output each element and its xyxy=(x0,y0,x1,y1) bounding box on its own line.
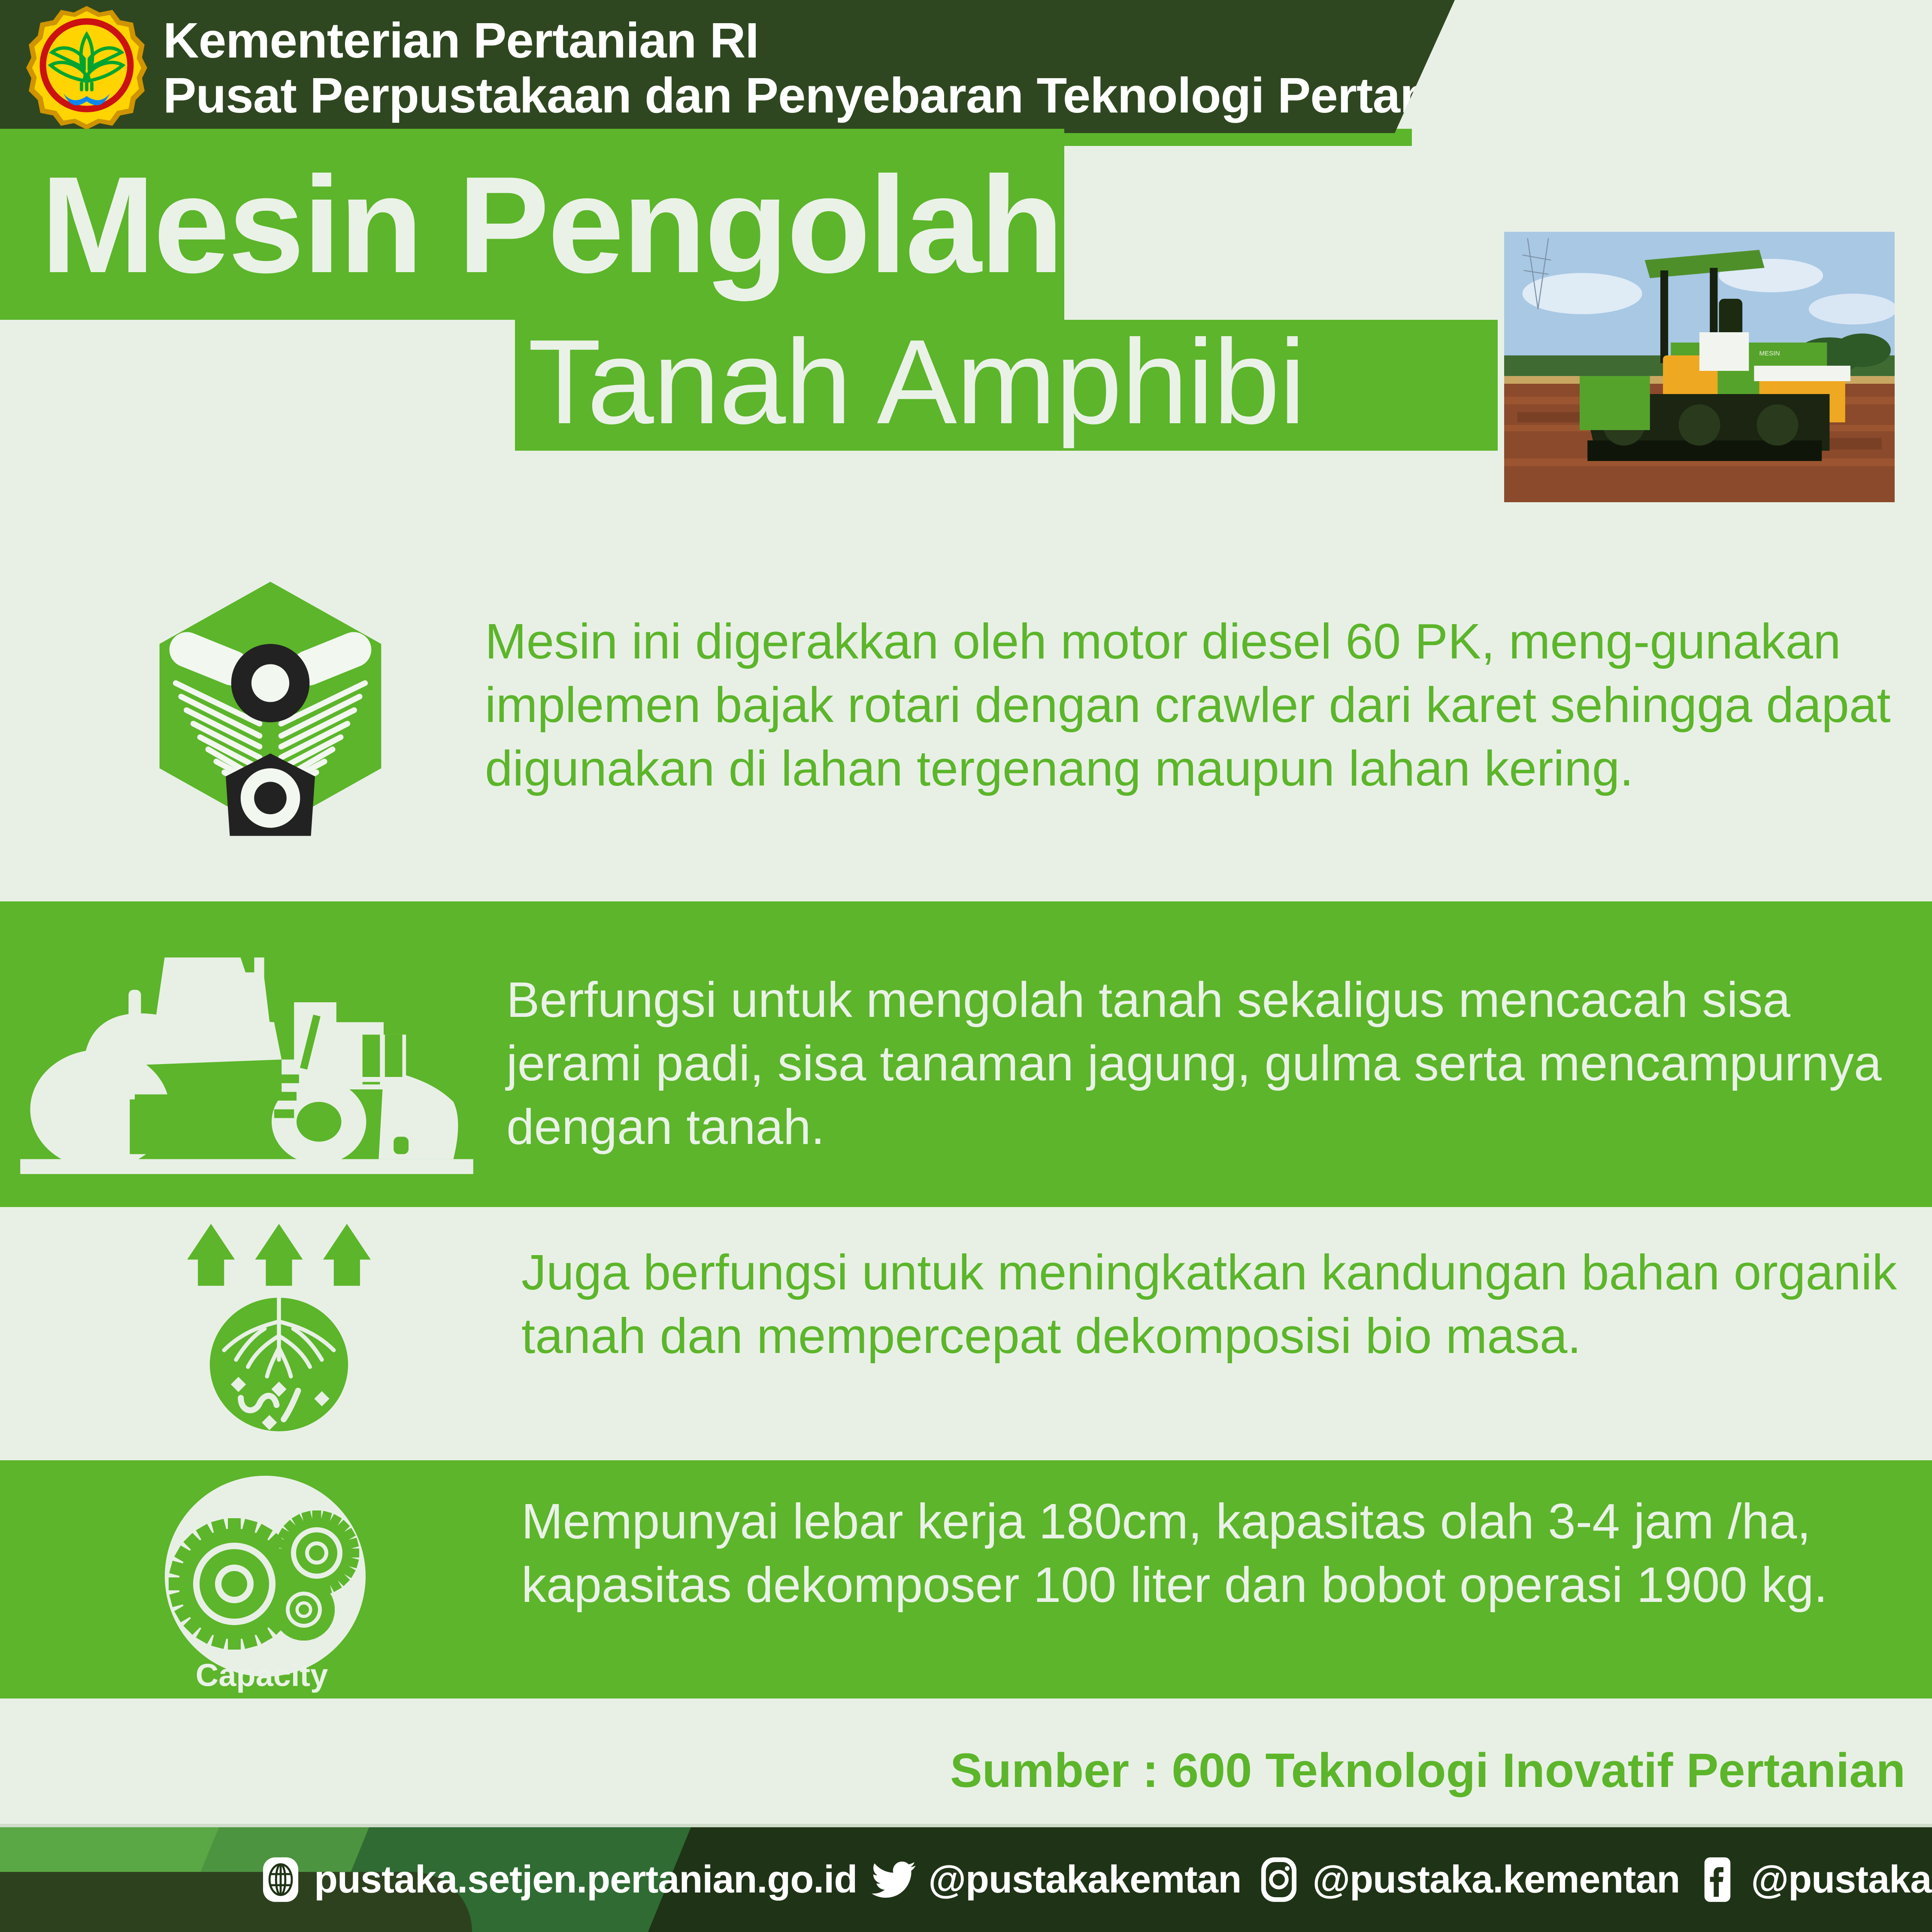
kementan-seal-logo xyxy=(22,3,151,132)
footer-label-instagram: @pustaka.kementan xyxy=(1312,1858,1680,1902)
footer-item-facebook[interactable]: @pustakakementan xyxy=(1694,1856,1932,1903)
header-bar: Kementerian Pertanian RI Pusat Perpustak… xyxy=(0,0,1455,133)
tractor-icon xyxy=(4,940,489,1189)
footer-label-twitter: @pustakakemtan xyxy=(928,1858,1241,1902)
twitter-icon xyxy=(872,1856,918,1903)
capacity-label: Capacity xyxy=(142,1657,382,1693)
footer-item-twitter[interactable]: @pustakakemtan xyxy=(872,1856,1241,1903)
footer-bar: pustaka.setjen.pertanian.go.id @pustakak… xyxy=(0,1827,1932,1932)
footer-label-facebook: @pustakakementan xyxy=(1751,1858,1932,1902)
header-org-line-1: Kementerian Pertanian RI xyxy=(163,13,1501,68)
row-text-2: Berfungsi untuk mengolah tanah sekaligus… xyxy=(506,968,1910,1159)
footer-divider xyxy=(0,1824,1932,1827)
footer-item-website[interactable]: pustaka.setjen.pertanian.go.id xyxy=(257,1856,857,1903)
page-title-line-1: Mesin Pengolah xyxy=(41,127,1071,322)
page-title-line-2: Tanah Amphibi xyxy=(528,313,1515,451)
infographic-canvas: Kementerian Pertanian RI Pusat Perpustak… xyxy=(0,0,1932,1932)
engine-icon xyxy=(129,571,412,841)
footer-social-list: pustaka.setjen.pertanian.go.id @pustakak… xyxy=(257,1827,1931,1932)
footer-label-website: pustaka.setjen.pertanian.go.id xyxy=(314,1858,857,1902)
row-text-3: Juga berfungsi untuk meningkatkan kandun… xyxy=(521,1240,1912,1368)
row-text-4: Mempunyai lebar kerja 180cm, kapasitas o… xyxy=(521,1489,1916,1617)
source-line: Sumber : 600 Teknologi Inovatif Pertania… xyxy=(0,1743,1905,1798)
soil-roots-arrows-icon xyxy=(159,1219,399,1434)
row-text-1: Mesin ini digerakkan oleh motor diesel 6… xyxy=(485,610,1893,800)
facebook-icon xyxy=(1694,1856,1741,1903)
machine-photo: MESIN xyxy=(1504,232,1895,502)
svg-text:MESIN: MESIN xyxy=(1759,350,1780,357)
header-org-line-2: Pusat Perpustakaan dan Penyebaran Teknol… xyxy=(163,68,1501,123)
footer-item-instagram[interactable]: @pustaka.kementan xyxy=(1256,1856,1680,1903)
header-org-text: Kementerian Pertanian RI Pusat Perpustak… xyxy=(163,13,1501,123)
globe-icon xyxy=(257,1856,304,1903)
instagram-icon xyxy=(1256,1856,1302,1903)
